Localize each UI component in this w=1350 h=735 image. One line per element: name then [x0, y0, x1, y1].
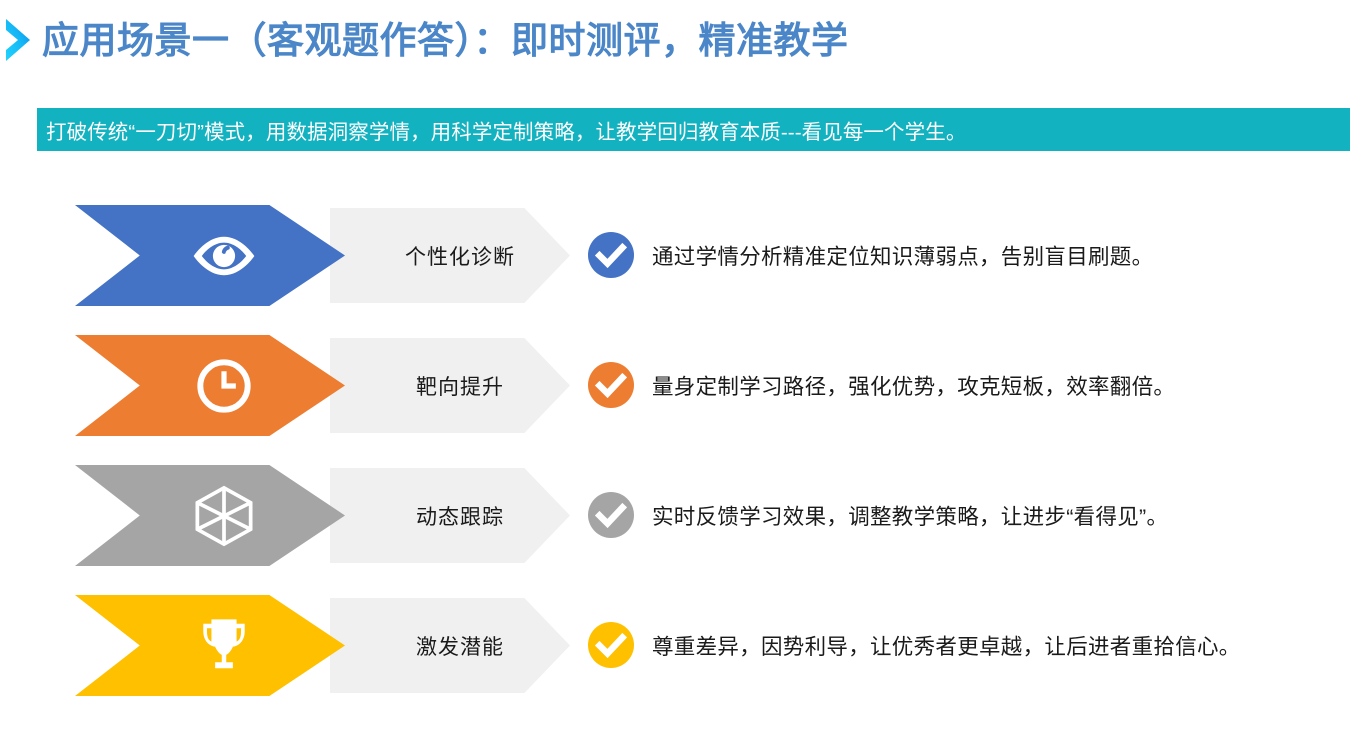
scenario-description: 通过学情分析精准定位知识薄弱点，告别盲目刷题。: [652, 232, 1153, 278]
check-circle-icon: [588, 232, 634, 278]
list-item: 个性化诊断 通过学情分析精准定位知识薄弱点，告别盲目刷题。: [0, 190, 1350, 320]
scenario-label: 靶向提升: [375, 338, 545, 433]
scenario-arrow: [75, 595, 345, 696]
scenario-label: 个性化诊断: [375, 208, 545, 303]
check-circle-icon: [588, 492, 634, 538]
check-circle-icon: [588, 362, 634, 408]
list-item: 动态跟踪 实时反馈学习效果，调整教学策略，让进步“看得见”。: [0, 450, 1350, 580]
scenario-description: 量身定制学习路径，强化优势，攻克短板，效率翻倍。: [652, 362, 1175, 408]
trophy-icon: [187, 609, 261, 683]
list-item: 激发潜能 尊重差异，因势利导，让优秀者更卓越，让后进者重拾信心。: [0, 580, 1350, 710]
list-item: 靶向提升 量身定制学习路径，强化优势，攻克短板，效率翻倍。: [0, 320, 1350, 450]
clock-icon: [187, 349, 261, 423]
eye-icon: [187, 219, 261, 293]
cube-wireframe-icon: [187, 479, 261, 553]
scenario-arrow: [75, 205, 345, 306]
scenario-list: 个性化诊断 通过学情分析精准定位知识薄弱点，告别盲目刷题。 靶向提升: [0, 0, 1350, 735]
scenario-label: 动态跟踪: [375, 468, 545, 563]
scenario-arrow: [75, 335, 345, 436]
check-circle-icon: [588, 622, 634, 668]
scenario-label: 激发潜能: [375, 598, 545, 693]
scenario-arrow: [75, 465, 345, 566]
scenario-description: 尊重差异，因势利导，让优秀者更卓越，让后进者重拾信心。: [652, 622, 1241, 668]
scenario-description: 实时反馈学习效果，调整教学策略，让进步“看得见”。: [652, 492, 1168, 538]
